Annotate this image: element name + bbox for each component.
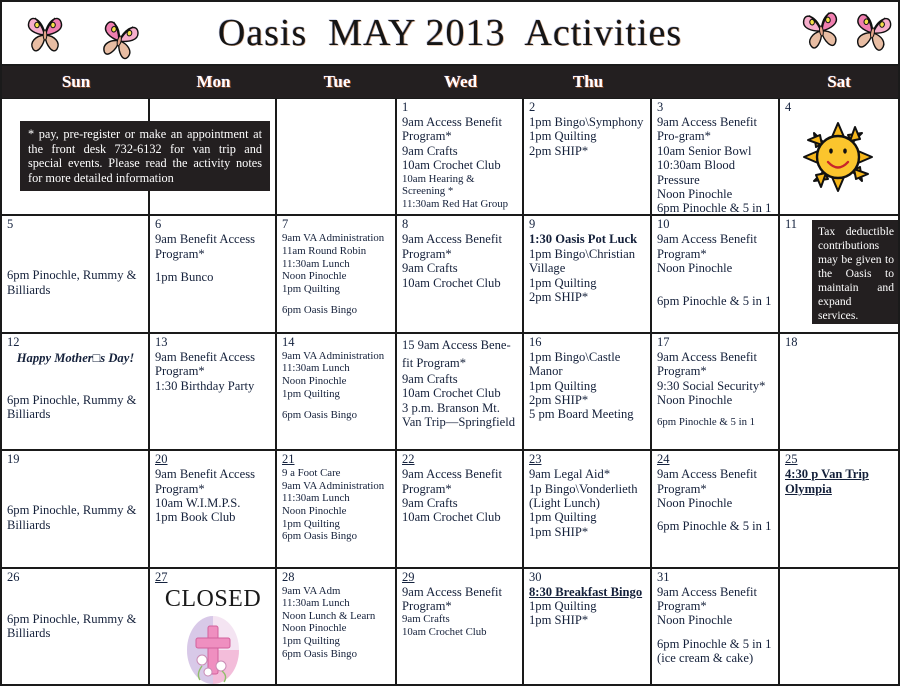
event-spacer	[7, 494, 144, 503]
day-cell-26[interactable]: 266pm Pinochle, Rummy & Billiards	[2, 569, 150, 684]
event-item[interactable]: 10am Senior Bowl	[657, 144, 774, 158]
day-cell-21[interactable]: 219 a Foot Care9am VA Administration11:3…	[277, 451, 397, 566]
event-item[interactable]: Noon Pinochle	[657, 393, 774, 407]
day-number: 14	[282, 336, 391, 349]
butterfly-icon	[847, 4, 898, 55]
day-of-week-header: Sun Mon Tue Wed Thu Sat	[2, 66, 898, 99]
event-item[interactable]: 6pm Pinochle & 5 in 1	[657, 519, 774, 533]
day-number: 27	[155, 571, 271, 584]
event-list: 6pm Pinochle, Rummy & Billiards	[7, 585, 144, 641]
day-number: 12	[7, 336, 144, 349]
day-number: 13	[155, 336, 271, 349]
event-list: 9am VA Administration11:30am LunchNoon P…	[282, 350, 391, 422]
butterfly-icon	[92, 11, 147, 65]
event-item[interactable]: 8:30 Breakfast Bingo	[529, 585, 646, 599]
day-cell-29[interactable]: 299am Access Benefit Program*9am Crafts1…	[397, 569, 524, 684]
calendar-grid: * pay, pre-register or make an appointme…	[2, 99, 898, 684]
event-item[interactable]: 10am Crochet Club	[402, 158, 518, 172]
day-cell-28[interactable]: 289am VA Adm11:30am LunchNoon Lunch & Le…	[277, 569, 397, 684]
dow-sun: Sun	[2, 72, 150, 92]
day-number: 6	[155, 218, 271, 231]
event-item[interactable]: 11:30am Lunch	[282, 492, 391, 505]
event-item[interactable]: 9am Access Benefit Program*	[402, 467, 518, 496]
event-spacer	[7, 603, 144, 612]
event-item[interactable]: 11:30am Red Hat Group	[402, 198, 518, 211]
event-item[interactable]: Van Trip—Springfield	[402, 415, 518, 429]
event-item[interactable]: 9am Crafts	[402, 144, 518, 158]
event-list: 1pm Bingo\Castle Manor1pm Quilting2pm SH…	[529, 350, 646, 422]
week-row: 56pm Pinochle, Rummy & Billiards69am Ben…	[2, 216, 898, 333]
day-number: 24	[657, 453, 774, 466]
event-spacer	[7, 467, 144, 476]
day-cell-14[interactable]: 149am VA Administration11:30am LunchNoon…	[277, 334, 397, 449]
day-cell-empty[interactable]: * pay, pre-register or make an appointme…	[2, 99, 150, 214]
week-row: 12Happy Mother□s Day!6pm Pinochle, Rummy…	[2, 334, 898, 451]
event-item[interactable]: 1pm Bingo\Symphony	[529, 115, 646, 129]
event-item[interactable]: 6pm Pinochle & 5 in 1	[657, 637, 774, 651]
title-banner: Oasis MAY 2013 Activities	[2, 2, 898, 66]
event-item[interactable]: 10am Crochet Club	[402, 386, 518, 400]
event-spacer	[657, 407, 774, 416]
event-item[interactable]: 9am Access Benefit Program*	[402, 585, 518, 614]
event-item[interactable]: 6pm Pinochle, Rummy & Billiards	[7, 612, 144, 641]
day-cell-5[interactable]: 56pm Pinochle, Rummy & Billiards	[2, 216, 150, 331]
event-item[interactable]: 9am Benefit Access Program*	[155, 350, 271, 379]
day-number: 28	[282, 571, 391, 584]
day-cell-24[interactable]: 249am Access Benefit Program*Noon Pinoch…	[652, 451, 780, 566]
event-list: 9am Access Benefit Program*9am Crafts10a…	[402, 585, 518, 639]
event-item[interactable]: 11:30am Lunch	[282, 258, 391, 271]
event-item[interactable]: 9am Access Benefit Program*	[402, 232, 518, 261]
day-number: 26	[7, 571, 144, 584]
closed-label: CLOSED	[155, 586, 271, 613]
event-spacer	[7, 259, 144, 268]
event-item[interactable]: 4:30 p Van Trip Olympia	[785, 467, 894, 496]
day-number: 18	[785, 336, 894, 349]
event-list: 9am Benefit Access Program*1pm Bunco	[155, 232, 271, 284]
day-cell-27[interactable]: 27CLOSED	[150, 569, 277, 684]
event-list: 9am Access Benefit Program*9am Crafts10a…	[402, 232, 518, 290]
day-number: 3	[657, 101, 774, 114]
day-number: 25	[785, 453, 894, 466]
event-list: 6pm Pinochle, Rummy & Billiards	[7, 366, 144, 422]
day-cell-20[interactable]: 209am Benefit Access Program*10am W.I.M.…	[150, 451, 277, 566]
event-item[interactable]: 9am Legal Aid*	[529, 467, 646, 481]
event-list: 1:30 Oasis Pot Luck1pm Bingo\Christian V…	[529, 232, 646, 304]
event-list: 9am Access Benefit Program*Noon Pinochle…	[657, 467, 774, 534]
day-cell-9[interactable]: 91:30 Oasis Pot Luck1pm Bingo\Christian …	[524, 216, 652, 331]
day-number: 8	[402, 218, 518, 231]
event-list: 9am Benefit Access Program*1:30 Birthday…	[155, 350, 271, 393]
event-item[interactable]: 9am Crafts	[402, 372, 518, 386]
event-item[interactable]: 1pm Quilting	[529, 276, 646, 290]
event-spacer	[7, 232, 144, 241]
event-item[interactable]: 9am Access Benefit Pro-gram*	[657, 115, 774, 144]
event-item[interactable]: 6pm Pinochle, Rummy & Billiards	[7, 503, 144, 532]
day-number: 16	[529, 336, 646, 349]
event-item[interactable]: 1:30 Birthday Party	[155, 379, 271, 393]
event-item[interactable]: 9am VA Adm	[282, 585, 391, 598]
dow-mon: Mon	[150, 72, 277, 92]
dow-wed: Wed	[397, 72, 524, 92]
event-item[interactable]: 10am Crochet Club	[402, 276, 518, 290]
event-item[interactable]: Noon Pinochle	[657, 187, 774, 201]
event-item[interactable]: 9am Benefit Access Program*	[155, 232, 271, 261]
event-item[interactable]: 10:30am Blood Pressure	[657, 158, 774, 187]
event-list: 9am Access Benefit Program*Noon Pinochle…	[657, 585, 774, 666]
event-item[interactable]: 9am VA Administration	[282, 232, 391, 245]
calendar-page: Oasis MAY 2013 Activities	[0, 0, 900, 686]
event-item[interactable]: 9 a Foot Care	[282, 467, 391, 480]
event-list: 4:30 p Van Trip Olympia	[785, 467, 894, 496]
event-item[interactable]: 2pm SHIP*	[529, 144, 646, 158]
day-cell-12[interactable]: 12Happy Mother□s Day!6pm Pinochle, Rummy…	[2, 334, 150, 449]
day-cell-10[interactable]: 109am Access Benefit Program*Noon Pinoch…	[652, 216, 780, 331]
day-number: 20	[155, 453, 271, 466]
event-item[interactable]: 2pm SHIP*	[529, 290, 646, 304]
event-list: 9am Benefit Access Program*10am W.I.M.P.…	[155, 467, 271, 525]
day-cell-16[interactable]: 161pm Bingo\Castle Manor1pm Quilting2pm …	[524, 334, 652, 449]
event-item[interactable]: 10am W.I.M.P.S.	[155, 496, 271, 510]
day-cell-8[interactable]: 89am Access Benefit Program*9am Crafts10…	[397, 216, 524, 331]
butterfly-icon	[22, 10, 68, 54]
event-list: 9am Access Benefit Program*Noon Pinochle…	[657, 232, 774, 308]
day-cell-30[interactable]: 308:30 Breakfast Bingo1pm Quilting1pm SH…	[524, 569, 652, 684]
event-spacer	[7, 250, 144, 259]
tax-deductible-note: Tax deductible contributions may be give…	[812, 220, 898, 324]
day-cell-1[interactable]: 19am Access Benefit Program*9am Crafts10…	[397, 99, 524, 214]
smiling-sun-icon	[802, 121, 874, 193]
event-item[interactable]: 11:30am Lunch	[282, 362, 391, 375]
event-item[interactable]: Noon Pinochle	[282, 270, 391, 283]
event-item[interactable]: 9am Crafts	[402, 613, 518, 626]
day-number: 23	[529, 453, 646, 466]
event-item[interactable]: 9am Access Benefit Program*	[657, 350, 774, 379]
day-number: 9	[529, 218, 646, 231]
event-list: 9am Access Benefit Program*9am Crafts10a…	[402, 115, 518, 210]
event-list: 9am VA Adm11:30am LunchNoon Lunch & Lear…	[282, 585, 391, 661]
event-spacer	[7, 241, 144, 250]
day-cell-17[interactable]: 179am Access Benefit Program*9:30 Social…	[652, 334, 780, 449]
event-item[interactable]: 9am Access Benefit Program*	[657, 232, 774, 261]
event-item[interactable]: 5 pm Board Meeting	[529, 407, 646, 421]
day-cell-13[interactable]: 139am Benefit Access Program*1:30 Birthd…	[150, 334, 277, 449]
day-cell-15[interactable]: 15 9am Access Bene-fit Program*9am Craft…	[397, 334, 524, 449]
event-item[interactable]: 9am VA Administration	[282, 350, 391, 363]
day-number: 7	[282, 218, 391, 231]
day-number: 19	[7, 453, 144, 466]
event-list: 9am Legal Aid*1p Bingo\Vonderlieth (Ligh…	[529, 467, 646, 539]
event-item[interactable]: 11am Round Robin	[282, 245, 391, 258]
day-cell-31[interactable]: 319am Access Benefit Program*Noon Pinoch…	[652, 569, 780, 684]
day-cell-25[interactable]: 254:30 p Van Trip Olympia	[780, 451, 898, 566]
event-item[interactable]: 9am Access Bene-fit Program*	[402, 338, 511, 370]
event-item[interactable]: 6pm Pinochle & 5 in 1	[657, 201, 774, 214]
event-item[interactable]: 10am Crochet Club	[402, 510, 518, 524]
day-cell-empty[interactable]	[780, 569, 898, 684]
event-item[interactable]: 9am Benefit Access Program*	[155, 467, 271, 496]
day-cell-23[interactable]: 239am Legal Aid*1p Bingo\Vonderlieth (Li…	[524, 451, 652, 566]
event-item[interactable]: 1pm Quilting	[282, 388, 391, 401]
event-list: 9 a Foot Care9am VA Administration11:30a…	[282, 467, 391, 543]
event-item[interactable]: Noon Pinochle	[657, 613, 774, 627]
event-item[interactable]: 9am Crafts	[402, 261, 518, 275]
day-cell-19[interactable]: 196pm Pinochle, Rummy & Billiards	[2, 451, 150, 566]
week-row: 196pm Pinochle, Rummy & Billiards209am B…	[2, 451, 898, 568]
day-number: 29	[402, 571, 518, 584]
event-item[interactable]: 6pm Pinochle & 5 in 1	[657, 416, 774, 429]
day-number: 17	[657, 336, 774, 349]
day-number: 31	[657, 571, 774, 584]
event-item[interactable]: 1pm Quilting	[529, 599, 646, 613]
day-number: 30	[529, 571, 646, 584]
day-cell-18[interactable]: 18	[780, 334, 898, 449]
day-number: 21	[282, 453, 391, 466]
event-spacer	[657, 510, 774, 519]
event-item[interactable]: 1pm Bunco	[155, 270, 271, 284]
event-item[interactable]: 3 p.m. Branson Mt.	[402, 401, 518, 415]
event-item[interactable]: Noon Pinochle	[282, 375, 391, 388]
event-item[interactable]: 1pm Quilting	[529, 510, 646, 524]
event-list: 6pm Pinochle, Rummy & Billiards	[7, 467, 144, 532]
page-title: Oasis MAY 2013 Activities	[218, 11, 682, 55]
event-item[interactable]: 6pm Oasis Bingo	[282, 648, 391, 661]
event-spacer	[657, 276, 774, 285]
event-item[interactable]: 1pm Quilting	[529, 129, 646, 143]
event-item[interactable]: 1pm Quilting	[282, 283, 391, 296]
event-item[interactable]: 6pm Pinochle & 5 in 1	[657, 294, 774, 308]
day-number: 1	[402, 101, 518, 114]
event-item[interactable]: Noon Lunch & Learn	[282, 610, 391, 623]
day-cell-22[interactable]: 229am Access Benefit Program*9am Crafts1…	[397, 451, 524, 566]
event-item[interactable]: 1pm Quilting	[282, 635, 391, 648]
event-item[interactable]: 9am VA Administration	[282, 480, 391, 493]
event-item[interactable]: 1pm SHIP*	[529, 525, 646, 539]
event-item[interactable]: 6pm Oasis Bingo	[282, 409, 391, 422]
front-desk-note: * pay, pre-register or make an appointme…	[20, 121, 270, 191]
event-item[interactable]: Noon Pinochle	[657, 261, 774, 275]
day-cell-11[interactable]: 11Tax deductible contributions may be gi…	[780, 216, 898, 331]
event-item[interactable]: 1pm Quilting	[282, 518, 391, 531]
event-list: 9am Access Benefit Pro-gram*10am Senior …	[657, 115, 774, 214]
event-list: 9am VA Administration11am Round Robin11:…	[282, 232, 391, 317]
event-list: 9am Access Bene-fit Program*9am Crafts10…	[402, 338, 518, 430]
event-item[interactable]: 6pm Oasis Bingo	[282, 530, 391, 543]
event-item[interactable]: 1pm SHIP*	[529, 613, 646, 627]
day-cell-empty[interactable]	[277, 99, 397, 214]
event-spacer	[7, 375, 144, 384]
dow-sat: Sat	[780, 72, 898, 92]
day-cell-2[interactable]: 21pm Bingo\Symphony1pm Quilting2pm SHIP*	[524, 99, 652, 214]
event-item[interactable]: Noon Pinochle	[282, 505, 391, 518]
event-item[interactable]: 9am Access Benefit Program*	[657, 585, 774, 614]
event-item[interactable]: 1:30 Oasis Pot Luck	[529, 232, 646, 246]
pink-cross-flowers-icon	[182, 614, 244, 684]
week-row: 266pm Pinochle, Rummy & Billiards27CLOSE…	[2, 569, 898, 684]
day-number: 22	[402, 453, 518, 466]
event-item[interactable]: 6pm Oasis Bingo	[282, 304, 391, 317]
event-item[interactable]: 9am Access Benefit Program*	[402, 115, 518, 144]
dow-tue: Tue	[277, 72, 397, 92]
event-item[interactable]: 6pm Pinochle, Rummy & Billiards	[7, 393, 144, 422]
event-list: 9am Access Benefit Program*9:30 Social S…	[657, 350, 774, 429]
day-number: 2	[529, 101, 646, 114]
day-number: 10	[657, 218, 774, 231]
event-spacer	[7, 366, 144, 375]
event-spacer	[7, 594, 144, 603]
event-item[interactable]: (ice cream & cake)	[657, 651, 774, 665]
event-item[interactable]: 1pm Book Club	[155, 510, 271, 524]
event-item[interactable]: 10am Crochet Club	[402, 626, 518, 639]
event-item[interactable]: 1p Bingo\Vonderlieth (Light Lunch)	[529, 482, 646, 511]
day-number: 5	[7, 218, 144, 231]
event-item[interactable]: 9am Access Benefit Program*	[657, 467, 774, 496]
event-spacer	[7, 485, 144, 494]
event-item[interactable]: 2pm SHIP*	[529, 393, 646, 407]
dow-thu: Thu	[524, 72, 652, 92]
day-cell-6[interactable]: 69am Benefit Access Program*1pm Bunco	[150, 216, 277, 331]
event-spacer	[7, 476, 144, 485]
day-cell-7[interactable]: 79am VA Administration11am Round Robin11…	[277, 216, 397, 331]
day-cell-4[interactable]: 4	[780, 99, 898, 214]
event-item[interactable]: 1pm Bingo\Castle Manor	[529, 350, 646, 379]
day-number: 4	[785, 101, 894, 114]
event-item[interactable]: Noon Pinochle	[657, 496, 774, 510]
event-item[interactable]: 1pm Quilting	[529, 379, 646, 393]
event-item[interactable]: 11:30am Lunch	[282, 597, 391, 610]
event-item[interactable]: 9am Crafts	[402, 496, 518, 510]
event-spacer	[155, 261, 271, 270]
event-spacer	[657, 285, 774, 294]
event-spacer	[282, 400, 391, 409]
week-row: * pay, pre-register or make an appointme…	[2, 99, 898, 216]
event-item[interactable]: 9:30 Social Security*	[657, 379, 774, 393]
day-cell-3[interactable]: 39am Access Benefit Pro-gram*10am Senior…	[652, 99, 780, 214]
event-item[interactable]: 6pm Pinochle, Rummy & Billiards	[7, 268, 144, 297]
event-list: 8:30 Breakfast Bingo1pm Quilting1pm SHIP…	[529, 585, 646, 628]
event-item[interactable]: 10am Hearing & Screening *	[402, 173, 518, 198]
event-list: 6pm Pinochle, Rummy & Billiards	[7, 232, 144, 297]
event-spacer	[7, 384, 144, 393]
event-list: 9am Access Benefit Program*9am Crafts10a…	[402, 467, 518, 525]
event-item[interactable]: 1pm Bingo\Christian Village	[529, 247, 646, 276]
butterfly-icon	[795, 3, 847, 53]
event-spacer	[657, 628, 774, 637]
mothers-day-label: Happy Mother□s Day!	[7, 351, 144, 366]
event-list: 1pm Bingo\Symphony1pm Quilting2pm SHIP*	[529, 115, 646, 158]
day-number: 15	[402, 338, 415, 352]
event-spacer	[7, 585, 144, 594]
event-item[interactable]: Noon Pinochle	[282, 622, 391, 635]
event-spacer	[282, 295, 391, 304]
